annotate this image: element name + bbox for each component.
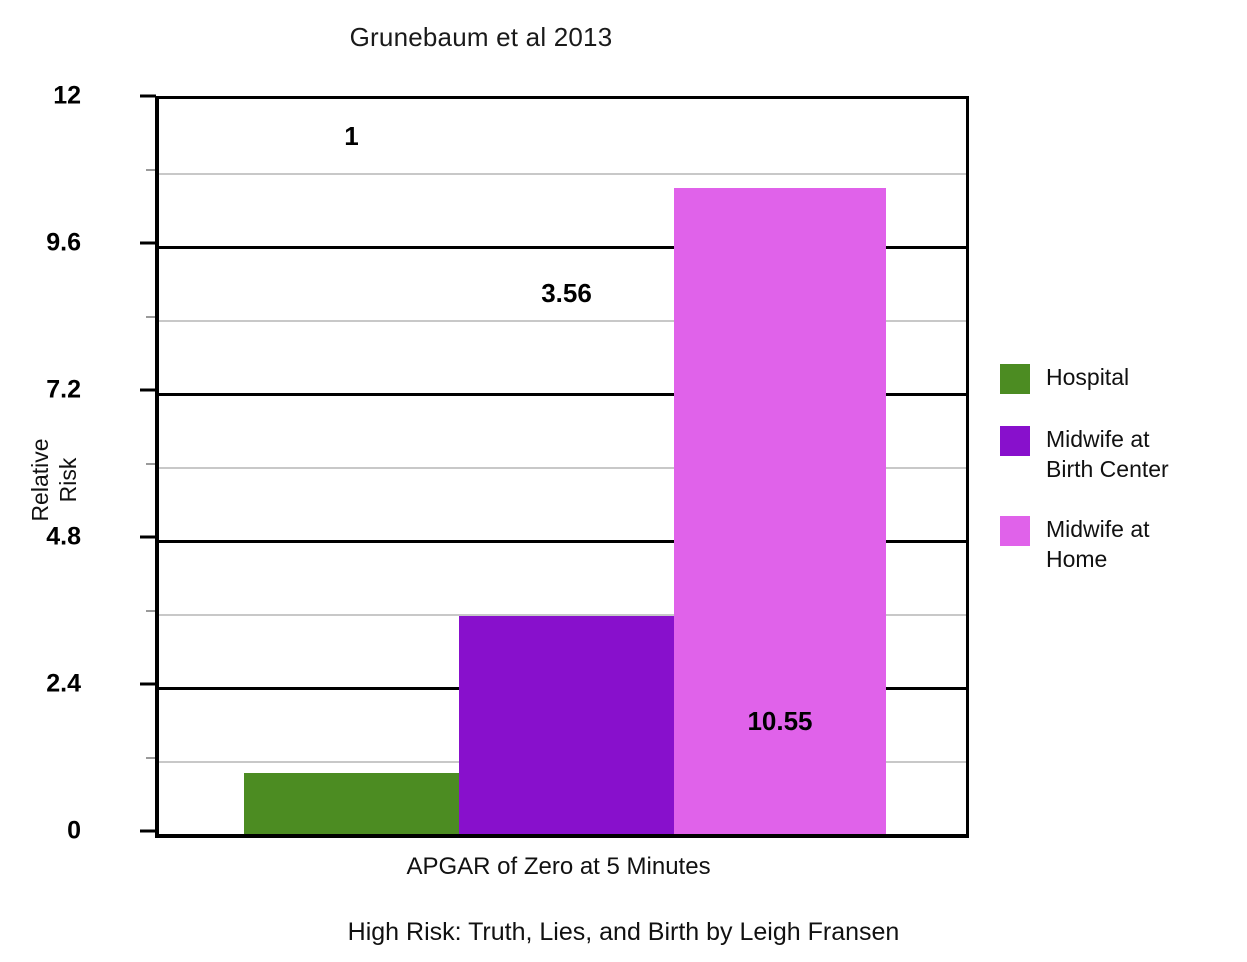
y-tick-mark-2-4 bbox=[140, 683, 156, 686]
footer-caption: High Risk: Truth, Lies, and Birth by Lei… bbox=[0, 918, 1247, 947]
bar-midwife-birth-center[interactable] bbox=[459, 616, 674, 834]
legend-label-hospital: Hospital bbox=[1046, 362, 1129, 392]
legend-item-midwife-birth-center[interactable]: Midwife at Birth Center bbox=[1000, 424, 1240, 484]
bar-value-midwife-home: 10.55 bbox=[674, 706, 886, 737]
y-tick-label-7-2: 7.2 bbox=[0, 376, 81, 405]
chart-title: Grunebaum et al 2013 bbox=[0, 22, 962, 53]
y-tick-mark-0 bbox=[140, 830, 156, 833]
y-tick-label-9-6: 9.6 bbox=[0, 229, 81, 258]
x-axis-label: APGAR of Zero at 5 Minutes bbox=[155, 853, 962, 881]
y-tick-mark-7-2 bbox=[140, 389, 156, 392]
bar-value-hospital: 1 bbox=[244, 121, 459, 152]
chart-legend: Hospital Midwife at Birth Center Midwife… bbox=[1000, 362, 1240, 604]
legend-swatch-midwife-birth-center bbox=[1000, 426, 1030, 456]
legend-swatch-hospital bbox=[1000, 364, 1030, 394]
y-tick-mark-12 bbox=[140, 95, 156, 98]
y-tick-mark-9-6 bbox=[140, 242, 156, 245]
y-tick-label-0: 0 bbox=[0, 817, 81, 846]
y-axis-title-line1: Relative bbox=[27, 438, 53, 521]
bar-hospital[interactable] bbox=[244, 773, 459, 834]
y-tick-label-4-8: 4.8 bbox=[0, 523, 81, 552]
legend-label-midwife-home: Midwife at Home bbox=[1046, 514, 1150, 574]
plot-inner: 1 3.56 10.55 bbox=[159, 99, 966, 834]
legend-label-midwife-birth-center: Midwife at Birth Center bbox=[1046, 424, 1169, 484]
y-tick-label-2-4: 2.4 bbox=[0, 670, 81, 699]
y-tick-mark-4-8 bbox=[140, 536, 156, 539]
legend-item-hospital[interactable]: Hospital bbox=[1000, 362, 1240, 394]
legend-swatch-midwife-home bbox=[1000, 516, 1030, 546]
chart-container: Grunebaum et al 2013 Relative Risk 12 9.… bbox=[0, 0, 1247, 962]
y-tick-label-12: 12 bbox=[0, 82, 81, 111]
bar-value-midwife-birth-center: 3.56 bbox=[459, 278, 674, 309]
plot-area: 1 3.56 10.55 bbox=[155, 96, 969, 838]
legend-item-midwife-home[interactable]: Midwife at Home bbox=[1000, 514, 1240, 574]
gridline-minor-10-8 bbox=[159, 173, 966, 175]
y-axis-title-line2: Risk bbox=[54, 438, 82, 521]
